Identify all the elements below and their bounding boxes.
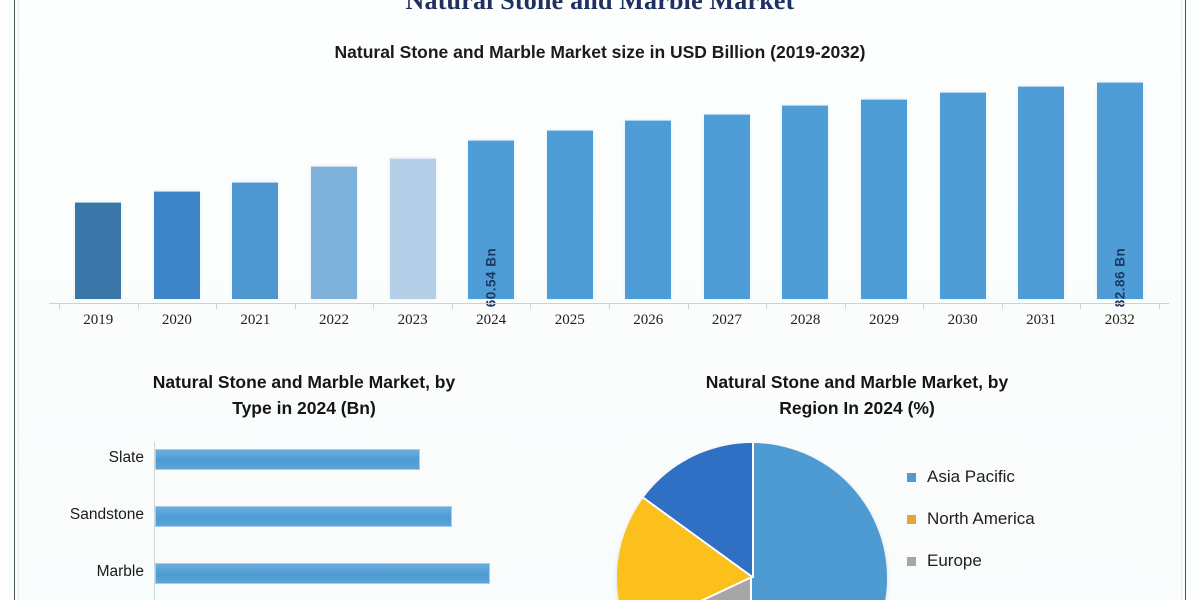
type-bar-row: Sandstone	[29, 503, 579, 527]
bar-2031	[1018, 86, 1064, 299]
pie-slice-separator	[629, 576, 752, 600]
x-tick	[138, 303, 139, 309]
bar-column	[625, 120, 671, 299]
bar-2020	[154, 191, 200, 299]
bar-column: 82.86 Bn	[1097, 82, 1143, 299]
x-tick	[845, 303, 846, 309]
x-tick	[1002, 303, 1003, 309]
region-legend: Asia PacificNorth AmericaEurope	[907, 456, 1167, 582]
region-chart-title-line2: Region In 2024 (%)	[607, 396, 1107, 422]
type-chart-title-line1: Natural Stone and Marble Market, by	[29, 370, 579, 396]
bar-2021	[232, 182, 278, 299]
x-tick	[923, 303, 924, 309]
x-tick	[530, 303, 531, 309]
legend-item: North America	[907, 498, 1167, 540]
x-tick	[295, 303, 296, 309]
frame-border-left	[14, 0, 15, 600]
x-axis-label-2019: 2019	[63, 312, 133, 329]
bar-column	[75, 202, 121, 299]
type-bar-row: Slate	[29, 446, 579, 470]
bar-column	[390, 158, 436, 299]
bar-column	[704, 114, 750, 299]
legend-swatch-icon	[907, 473, 916, 482]
x-tick	[688, 303, 689, 309]
x-axis-label-2025: 2025	[535, 312, 605, 329]
pie-slice-separator	[643, 497, 753, 578]
x-axis-label-2027: 2027	[692, 312, 762, 329]
x-axis-label-2029: 2029	[849, 312, 919, 329]
bar-2024: 60.54 Bn	[468, 140, 514, 299]
main-chart-plot-area: 60.54 Bn82.86 Bn	[59, 64, 1159, 299]
bar-2029	[861, 99, 907, 299]
x-tick	[609, 303, 610, 309]
bar-column	[311, 166, 357, 299]
bar-column	[782, 105, 828, 299]
frame-border-right-inner	[1181, 0, 1182, 600]
bar-2023	[390, 158, 436, 299]
bar-value-label: 82.86 Bn	[1112, 248, 1127, 308]
region-chart-title-line1: Natural Stone and Marble Market, by	[607, 370, 1107, 396]
bar-column	[940, 92, 986, 299]
bar-2019	[75, 202, 121, 299]
x-axis-label-2030: 2030	[928, 312, 998, 329]
infographic-page: Natural Stone and Marble Market Natural …	[0, 0, 1200, 600]
type-bar-row: Marble	[29, 560, 579, 584]
type-chart-title-line2: Type in 2024 (Bn)	[29, 396, 579, 422]
pie-slice-separator	[750, 578, 752, 600]
region-chart-title: Natural Stone and Marble Market, by Regi…	[607, 370, 1107, 422]
type-label-marble: Marble	[29, 560, 144, 584]
legend-label: North America	[927, 509, 1035, 529]
bar-column: 60.54 Bn	[468, 140, 514, 299]
type-label-sandstone: Sandstone	[29, 503, 144, 527]
bar-value-label: 60.54 Bn	[484, 248, 499, 308]
x-axis-label-2021: 2021	[220, 312, 290, 329]
legend-label: Asia Pacific	[927, 467, 1015, 487]
bar-column	[547, 130, 593, 299]
bar-column	[154, 191, 200, 299]
type-bar-slate	[155, 449, 420, 470]
bar-2022	[311, 166, 357, 299]
region-pie	[617, 443, 887, 600]
legend-label: Europe	[927, 551, 982, 571]
x-axis-label-2023: 2023	[378, 312, 448, 329]
frame-border-right	[1185, 0, 1186, 600]
x-tick	[59, 303, 60, 309]
type-bar-marble	[155, 563, 490, 584]
x-axis-label-2028: 2028	[770, 312, 840, 329]
bar-2030	[940, 92, 986, 299]
market-by-type-chart: Natural Stone and Marble Market, by Type…	[29, 360, 579, 600]
x-axis-label-2026: 2026	[613, 312, 683, 329]
bar-2028	[782, 105, 828, 299]
legend-swatch-icon	[907, 557, 916, 566]
type-bar-sandstone	[155, 506, 452, 527]
bar-2026	[625, 120, 671, 299]
bar-column	[861, 99, 907, 299]
legend-item: Europe	[907, 540, 1167, 582]
bar-column	[232, 182, 278, 299]
x-axis-label-2024: 2024	[456, 312, 526, 329]
x-tick	[1159, 303, 1160, 309]
infographic-canvas: Natural Stone and Marble Market Natural …	[19, 0, 1181, 600]
bar-2025	[547, 130, 593, 299]
market-by-region-chart: Natural Stone and Marble Market, by Regi…	[587, 360, 1181, 600]
type-label-slate: Slate	[29, 446, 144, 470]
x-tick	[452, 303, 453, 309]
pie-slice-separator	[752, 443, 754, 578]
bar-column	[1018, 86, 1064, 299]
legend-swatch-icon	[907, 515, 916, 524]
main-chart-title: Natural Stone and Marble Market size in …	[19, 42, 1181, 63]
type-chart-title: Natural Stone and Marble Market, by Type…	[29, 370, 579, 422]
x-axis-label-2022: 2022	[299, 312, 369, 329]
x-tick	[1080, 303, 1081, 309]
bar-2032: 82.86 Bn	[1097, 82, 1143, 299]
x-axis-label-2020: 2020	[142, 312, 212, 329]
x-axis-label-2032: 2032	[1085, 312, 1155, 329]
x-tick	[216, 303, 217, 309]
market-size-bar-chart: Natural Stone and Marble Market size in …	[19, 34, 1181, 344]
legend-item: Asia Pacific	[907, 456, 1167, 498]
x-axis-label-2031: 2031	[1006, 312, 1076, 329]
x-tick	[373, 303, 374, 309]
x-tick	[766, 303, 767, 309]
masthead-title: Natural Stone and Marble Market	[19, 0, 1181, 16]
bar-2027	[704, 114, 750, 299]
